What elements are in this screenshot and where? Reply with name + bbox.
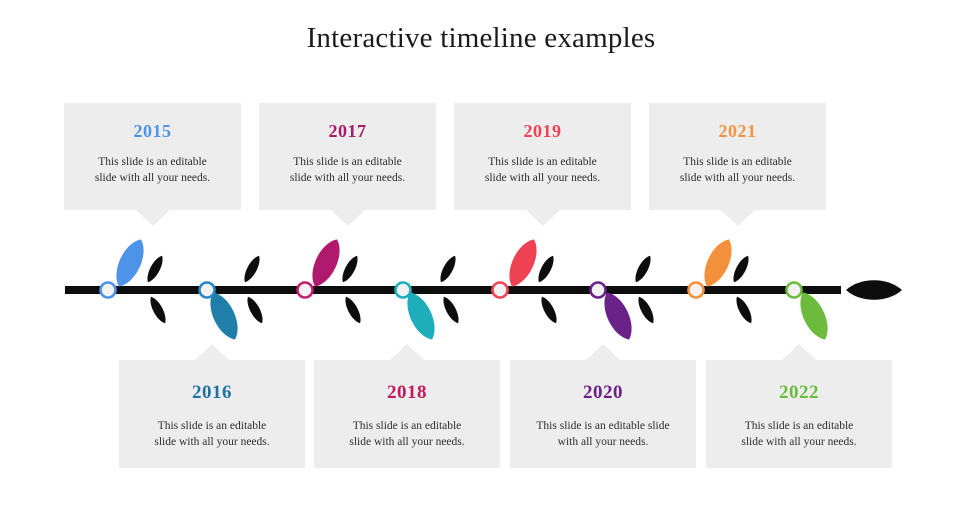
- timeline-node-2020[interactable]: [591, 283, 606, 298]
- leaf-2015: [109, 235, 150, 291]
- timeline-card-2018[interactable]: 2018 This slide is an editable slide wit…: [314, 360, 500, 468]
- decorative-leaf-icon: [339, 254, 361, 285]
- leaf-2017: [305, 235, 346, 291]
- card-tail-2020: [586, 344, 620, 360]
- card-text-line1: This slide is an editable: [158, 420, 267, 432]
- card-text-2018: This slide is an editable slide with all…: [314, 418, 500, 450]
- card-text-line2: slide with all your needs.: [154, 436, 269, 448]
- card-text-2019: This slide is an editable slide with all…: [454, 154, 631, 186]
- card-text-line2: slide with all your needs.: [680, 172, 795, 184]
- timeline-card-2020[interactable]: 2020 This slide is an editable slide wit…: [510, 360, 696, 468]
- card-tail-2017: [331, 210, 365, 226]
- card-year-2016: 2016: [119, 382, 305, 404]
- decorative-leaf-icon: [632, 254, 654, 285]
- card-year-2015: 2015: [64, 120, 241, 142]
- card-text-2015: This slide is an editable slide with all…: [64, 154, 241, 186]
- card-year-2021: 2021: [649, 120, 826, 142]
- card-text-line1: This slide is an editable: [293, 156, 402, 168]
- card-year-2017: 2017: [259, 120, 436, 142]
- page-title: Interactive timeline examples: [0, 20, 962, 56]
- card-text-line1: This slide is an editable: [745, 420, 854, 432]
- timeline-card-2021[interactable]: 2021 This slide is an editable slide wit…: [649, 103, 826, 210]
- timeline-node-2021[interactable]: [689, 283, 704, 298]
- card-tail-2018: [390, 344, 424, 360]
- branch-tip-leaf-icon: [846, 280, 902, 300]
- card-text-line2: slide with all your needs.: [349, 436, 464, 448]
- card-text-2021: This slide is an editable slide with all…: [649, 154, 826, 186]
- decorative-leaf-icon: [437, 254, 459, 285]
- timeline-stem: [65, 286, 841, 294]
- card-tail-2019: [526, 210, 560, 226]
- card-tail-2015: [136, 210, 170, 226]
- card-year-2020: 2020: [510, 382, 696, 404]
- decorative-leaf-icon: [733, 295, 755, 326]
- card-text-line1: This slide is an editable: [683, 156, 792, 168]
- card-text-line1: This slide is an editable: [353, 420, 462, 432]
- card-year-2019: 2019: [454, 120, 631, 142]
- card-year-2022: 2022: [706, 382, 892, 404]
- timeline-node-2022[interactable]: [787, 283, 802, 298]
- card-text-2022: This slide is an editable slide with all…: [706, 418, 892, 450]
- decorative-leaf-icon: [535, 254, 557, 285]
- timeline-slide: Interactive timeline examples 2015 This …: [0, 0, 962, 526]
- timeline-card-2022[interactable]: 2022 This slide is an editable slide wit…: [706, 360, 892, 468]
- card-text-line2: slide with all your needs.: [485, 172, 600, 184]
- decorative-leaf-icon: [440, 295, 462, 326]
- decorative-leaf-icon: [342, 295, 364, 326]
- decorative-leaf-icon: [635, 295, 657, 326]
- card-text-line2: slide with all your needs.: [290, 172, 405, 184]
- decorative-leaf-icon: [538, 295, 560, 326]
- leaf-2021: [697, 235, 738, 291]
- timeline-node-2016[interactable]: [200, 283, 215, 298]
- timeline-node-2019[interactable]: [493, 283, 508, 298]
- timeline-card-2017[interactable]: 2017 This slide is an editable slide wit…: [259, 103, 436, 210]
- decorative-leaf-icon: [730, 254, 752, 285]
- decorative-leaf-icon: [147, 295, 169, 326]
- card-tail-2016: [195, 344, 229, 360]
- timeline-card-2015[interactable]: 2015 This slide is an editable slide wit…: [64, 103, 241, 210]
- card-text-line2: slide with all your needs.: [741, 436, 856, 448]
- leaf-2019: [502, 235, 543, 291]
- card-text-line1: This slide is an editable: [488, 156, 597, 168]
- timeline-node-2017[interactable]: [298, 283, 313, 298]
- card-text-line2: with all your needs.: [558, 436, 649, 448]
- card-text-2017: This slide is an editable slide with all…: [259, 154, 436, 186]
- timeline-branch: [0, 228, 962, 350]
- decorative-leaf-icon: [244, 295, 266, 326]
- timeline-node-2018[interactable]: [396, 283, 411, 298]
- card-text-line2: slide with all your needs.: [95, 172, 210, 184]
- timeline-node-2015[interactable]: [101, 283, 116, 298]
- card-tail-2022: [782, 344, 816, 360]
- card-text-2020: This slide is an editable slide with all…: [510, 418, 696, 450]
- timeline-card-2019[interactable]: 2019 This slide is an editable slide wit…: [454, 103, 631, 210]
- timeline-card-2016[interactable]: 2016 This slide is an editable slide wit…: [119, 360, 305, 468]
- decorative-leaf-icon: [144, 254, 166, 285]
- card-text-line1: This slide is an editable: [98, 156, 207, 168]
- decorative-leaf-icon: [241, 254, 263, 285]
- card-tail-2021: [721, 210, 755, 226]
- card-year-2018: 2018: [314, 382, 500, 404]
- card-text-line1: This slide is an editable slide: [536, 420, 669, 432]
- card-text-2016: This slide is an editable slide with all…: [119, 418, 305, 450]
